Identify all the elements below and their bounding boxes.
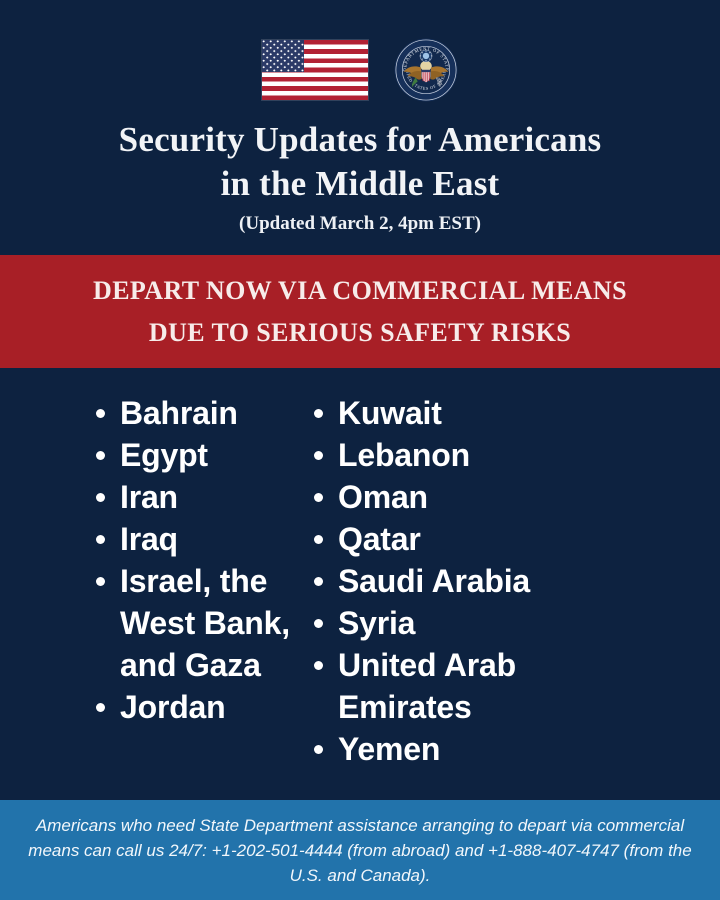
alert-line-2: DUE TO SERIOUS SAFETY RISKS (149, 312, 571, 354)
country-list: Bahrain Egypt Iran Iraq Israel, the West… (0, 392, 720, 792)
footer-band: Americans who need State Department assi… (0, 800, 720, 900)
bullet-icon (96, 409, 105, 418)
bullet-icon (314, 619, 323, 628)
country-label: Yemen (338, 731, 440, 767)
list-item: Egypt (90, 434, 300, 476)
bullet-icon (96, 577, 105, 586)
security-update-poster: DEPARTMENT OF STATE UNITED STATES OF AME… (0, 0, 720, 900)
country-column-left: Bahrain Egypt Iran Iraq Israel, the West… (0, 392, 300, 792)
country-label: United Arab Emirates (338, 647, 516, 725)
list-item: Qatar (308, 518, 630, 560)
country-label: Egypt (120, 437, 208, 473)
country-label: Iraq (120, 521, 178, 557)
list-item: Saudi Arabia (308, 560, 630, 602)
list-item: Israel, the West Bank, and Gaza (90, 560, 300, 686)
bullet-icon (96, 703, 105, 712)
emblem-row: DEPARTMENT OF STATE UNITED STATES OF AME… (0, 34, 720, 106)
country-column-right: Kuwait Lebanon Oman Qatar Saudi Arabia S… (300, 392, 630, 792)
bullet-icon (96, 493, 105, 502)
bullet-icon (314, 535, 323, 544)
country-label: Iran (120, 479, 178, 515)
title-line-1: Security Updates for Americans (0, 118, 720, 162)
country-label: Syria (338, 605, 415, 641)
alert-banner: DEPART NOW VIA COMMERCIAL MEANS DUE TO S… (0, 255, 720, 368)
list-item: Yemen (308, 728, 630, 770)
title-subtitle: (Updated March 2, 4pm EST) (0, 212, 720, 236)
list-item: Lebanon (308, 434, 630, 476)
title-line-2: in the Middle East (0, 162, 720, 206)
page-title: Security Updates for Americans in the Mi… (0, 118, 720, 236)
bullet-icon (314, 409, 323, 418)
list-item: Syria (308, 602, 630, 644)
country-label: Qatar (338, 521, 421, 557)
country-label: Kuwait (338, 395, 442, 431)
list-item: United Arab Emirates (308, 644, 630, 728)
flag-stars (262, 40, 304, 72)
bullet-icon (314, 493, 323, 502)
department-of-state-seal-icon: DEPARTMENT OF STATE UNITED STATES OF AME… (394, 38, 458, 102)
bullet-icon (96, 451, 105, 460)
bullet-icon (96, 535, 105, 544)
country-label: Oman (338, 479, 428, 515)
alert-line-1: DEPART NOW VIA COMMERCIAL MEANS (93, 270, 627, 312)
list-item: Iraq (90, 518, 300, 560)
us-flag-icon (262, 40, 368, 100)
country-label: Jordan (120, 689, 226, 725)
country-label: Lebanon (338, 437, 470, 473)
country-label: Israel, the West Bank, and Gaza (120, 563, 290, 683)
list-item: Kuwait (308, 392, 630, 434)
list-item: Iran (90, 476, 300, 518)
country-label: Saudi Arabia (338, 563, 530, 599)
bullet-icon (314, 661, 323, 670)
bullet-icon (314, 577, 323, 586)
footer-contact-text: Americans who need State Department assi… (0, 813, 720, 888)
bullet-icon (314, 451, 323, 460)
bullet-icon (314, 745, 323, 754)
list-item: Jordan (90, 686, 300, 728)
list-item: Oman (308, 476, 630, 518)
list-item: Bahrain (90, 392, 300, 434)
country-label: Bahrain (120, 395, 238, 431)
